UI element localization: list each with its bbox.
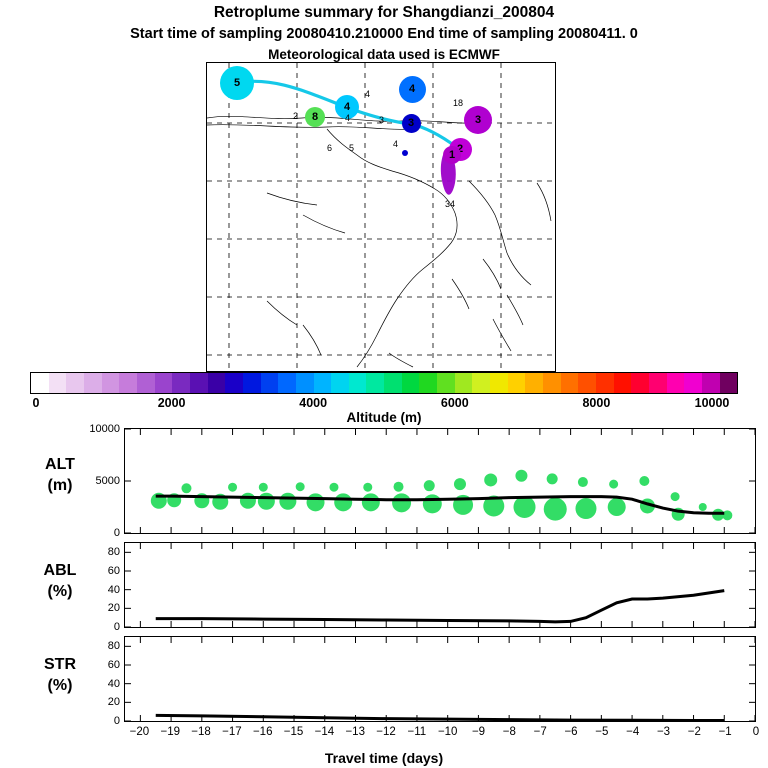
colorbar-swatch xyxy=(331,373,349,393)
y-tick-label: 0 xyxy=(60,621,120,633)
colorbar-swatch xyxy=(31,373,49,393)
colorbar-tick-label: 4000 xyxy=(299,396,327,410)
plume-blob: 3 xyxy=(464,106,492,134)
x-tick-label: −3 xyxy=(657,726,670,738)
page-title: Retroplume summary for Shangdianzi_20080… xyxy=(0,4,768,22)
y-tick-label: 0 xyxy=(60,527,120,539)
alt-marker xyxy=(362,493,380,511)
map-number-label: 2 xyxy=(293,111,298,121)
alt-marker xyxy=(228,483,237,492)
colorbar-swatch xyxy=(508,373,526,393)
colorbar-swatch xyxy=(296,373,314,393)
y-tick-label: 60 xyxy=(60,565,120,577)
plume-blob: 4 xyxy=(399,76,426,103)
colorbar-swatch xyxy=(190,373,208,393)
colorbar-tick-label: 8000 xyxy=(582,396,610,410)
alt-marker xyxy=(424,480,435,491)
alt-marker xyxy=(279,493,296,510)
map-number-label: 4 xyxy=(345,113,350,123)
x-tick-label: −14 xyxy=(315,726,335,738)
alt-marker xyxy=(181,483,191,493)
x-tick-label: −13 xyxy=(345,726,365,738)
alt-marker xyxy=(547,473,558,484)
met-data-line: Meteorological data used is ECMWF xyxy=(0,47,768,62)
alt-panel xyxy=(124,428,756,534)
alt-marker xyxy=(671,492,680,501)
plume-blob: 8 xyxy=(305,107,325,127)
y-tick-label: 10000 xyxy=(60,423,120,435)
colorbar-tick-label: 2000 xyxy=(158,396,186,410)
alt-marker xyxy=(712,509,724,521)
colorbar-swatch xyxy=(208,373,226,393)
x-tick-label: −10 xyxy=(438,726,458,738)
colorbar-swatch xyxy=(667,373,685,393)
colorbar-swatch xyxy=(720,373,738,393)
colorbar-swatch xyxy=(402,373,420,393)
x-tick-label: −9 xyxy=(472,726,485,738)
map-number-label: 18 xyxy=(453,98,463,108)
x-tick-label: 0 xyxy=(753,726,759,738)
alt-marker xyxy=(259,483,268,492)
alt-marker xyxy=(363,483,372,492)
colorbar-swatch xyxy=(102,373,120,393)
x-tick-label: −20 xyxy=(130,726,150,738)
alt-marker xyxy=(484,473,497,486)
y-tick-label: 20 xyxy=(60,696,120,708)
sampling-time-line: Start time of sampling 20080410.210000 E… xyxy=(0,26,768,42)
panel-str-plot xyxy=(125,637,755,721)
map-number-label: 3 xyxy=(379,115,384,125)
colorbar-swatch xyxy=(66,373,84,393)
x-tick-label: −6 xyxy=(564,726,577,738)
alt-marker xyxy=(258,493,275,510)
colorbar-swatch xyxy=(472,373,490,393)
x-tick-labels: −20−19−18−17−16−15−14−13−12−11−10−9−8−7−… xyxy=(124,726,756,742)
colorbar-swatch xyxy=(437,373,455,393)
colorbar-swatch xyxy=(137,373,155,393)
colorbar-swatch xyxy=(684,373,702,393)
alt-marker xyxy=(454,478,466,490)
x-tick-label: −18 xyxy=(191,726,211,738)
colorbar-tick-label: 0 xyxy=(33,396,40,410)
colorbar-swatch xyxy=(261,373,279,393)
alt-marker xyxy=(639,476,649,486)
colorbar-swatch xyxy=(649,373,667,393)
alt-marker xyxy=(575,498,596,519)
x-tick-label: −12 xyxy=(376,726,396,738)
colorbar-swatch xyxy=(543,373,561,393)
colorbar-swatch xyxy=(490,373,508,393)
y-tick-label: 80 xyxy=(60,640,120,652)
colorbar-swatch xyxy=(49,373,67,393)
x-tick-label: −19 xyxy=(160,726,180,738)
map-number-label: 5 xyxy=(349,143,354,153)
x-tick-label: −4 xyxy=(626,726,639,738)
colorbar-swatch xyxy=(243,373,261,393)
x-tick-label: −16 xyxy=(253,726,273,738)
colorbar-swatch xyxy=(631,373,649,393)
alt-marker xyxy=(240,493,256,509)
mean-line xyxy=(156,591,725,622)
alt-marker xyxy=(608,498,626,516)
x-tick-label: −7 xyxy=(534,726,547,738)
panel-alt-plot xyxy=(125,429,755,533)
abl-panel xyxy=(124,542,756,628)
colorbar-swatch xyxy=(455,373,473,393)
colorbar-swatch xyxy=(225,373,243,393)
alt-marker xyxy=(423,494,442,513)
x-tick-label: −1 xyxy=(719,726,732,738)
y-tick-label: 40 xyxy=(60,678,120,690)
alt-marker xyxy=(514,496,536,518)
plume-blob: 3 xyxy=(402,114,421,133)
x-tick-label: −2 xyxy=(688,726,701,738)
map-number-label: 4 xyxy=(393,139,398,149)
alt-marker xyxy=(609,480,618,489)
y-tick-label: 60 xyxy=(60,659,120,671)
alt-marker xyxy=(699,503,707,511)
plume-blob: 1 xyxy=(443,146,461,164)
x-axis-label: Travel time (days) xyxy=(0,750,768,766)
colorbar-swatch xyxy=(84,373,102,393)
y-tick-label: 5000 xyxy=(60,475,120,487)
colorbar-swatch xyxy=(614,373,632,393)
y-tick-label: 80 xyxy=(60,546,120,558)
colorbar-swatch xyxy=(349,373,367,393)
colorbar-tick-label: 6000 xyxy=(441,396,469,410)
x-tick-label: −15 xyxy=(284,726,304,738)
map-number-label: 6 xyxy=(327,143,332,153)
map-number-label: 4 xyxy=(365,89,370,99)
y-tick-label: 20 xyxy=(60,602,120,614)
alt-marker xyxy=(515,470,527,482)
alt-marker xyxy=(296,482,305,491)
str-panel xyxy=(124,636,756,722)
alt-marker xyxy=(307,493,325,511)
alt-marker xyxy=(544,498,567,521)
colorbar-swatch xyxy=(578,373,596,393)
colorbar-swatch xyxy=(525,373,543,393)
x-tick-label: −17 xyxy=(222,726,242,738)
alt-marker xyxy=(329,483,338,492)
y-tick-label: 40 xyxy=(60,584,120,596)
colorbar-swatch xyxy=(561,373,579,393)
mean-line xyxy=(156,715,725,720)
alt-marker xyxy=(334,493,352,511)
retroplume-map: 5844332142431865434 xyxy=(206,62,556,372)
map-number-label: 34 xyxy=(445,199,455,209)
alt-marker xyxy=(394,482,404,492)
map-graticule-and-coastlines xyxy=(207,63,553,369)
x-tick-label: −11 xyxy=(408,726,427,738)
alt-axis-label-1: ALT xyxy=(8,456,112,474)
y-tick-label: 0 xyxy=(60,715,120,727)
colorbar-swatch xyxy=(119,373,137,393)
altitude-colorbar xyxy=(30,372,738,394)
colorbar-swatch xyxy=(278,373,296,393)
x-tick-label: −5 xyxy=(595,726,608,738)
panel-abl-plot xyxy=(125,543,755,627)
colorbar-swatch xyxy=(384,373,402,393)
colorbar-swatch xyxy=(596,373,614,393)
colorbar-ticks: 0200040006000800010000 xyxy=(30,396,738,410)
colorbar-swatch xyxy=(314,373,332,393)
colorbar-swatch xyxy=(419,373,437,393)
colorbar-swatch xyxy=(155,373,173,393)
alt-marker xyxy=(578,477,588,487)
colorbar-swatch xyxy=(702,373,720,393)
alt-marker xyxy=(392,493,411,512)
colorbar-swatch xyxy=(366,373,384,393)
x-tick-label: −8 xyxy=(503,726,516,738)
plume-blob: 5 xyxy=(220,66,254,100)
colorbar-tick-label: 10000 xyxy=(695,396,730,410)
colorbar-swatch xyxy=(172,373,190,393)
